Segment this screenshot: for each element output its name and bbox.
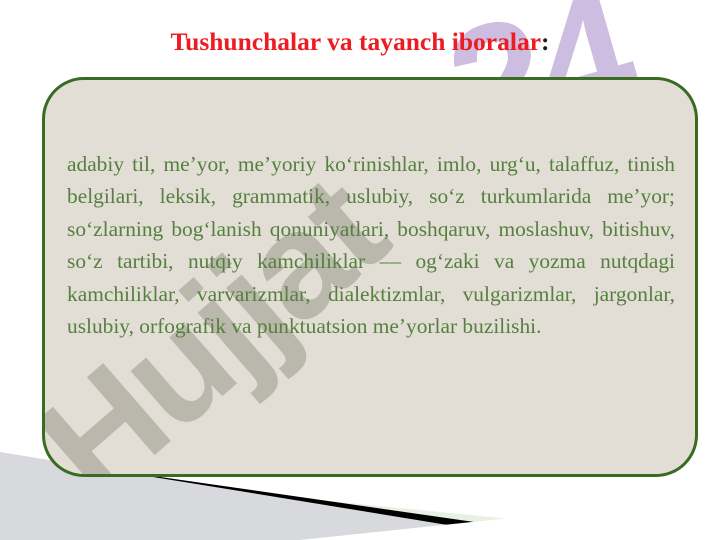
deco-green-wedge (0, 468, 720, 540)
page-title: Tushunchalar va tayanch iboralar: (0, 28, 720, 56)
body-paragraph: adabiy til, me’yor, me’yoriy ko‘rinishla… (67, 148, 675, 342)
body-text-block: adabiy til, me’yor, me’yoriy ko‘rinishla… (67, 148, 675, 342)
page-title-text: Tushunchalar va tayanch iboralar (170, 27, 541, 56)
page-title-colon: : (541, 27, 550, 56)
content-box: Hujjat adabiy til, me’yor, me’yoriy ko‘r… (42, 77, 698, 477)
deco-white-wedge (300, 496, 720, 540)
slide-canvas: 24 Tushunchalar va tayanch iboralar: Huj… (0, 0, 720, 540)
